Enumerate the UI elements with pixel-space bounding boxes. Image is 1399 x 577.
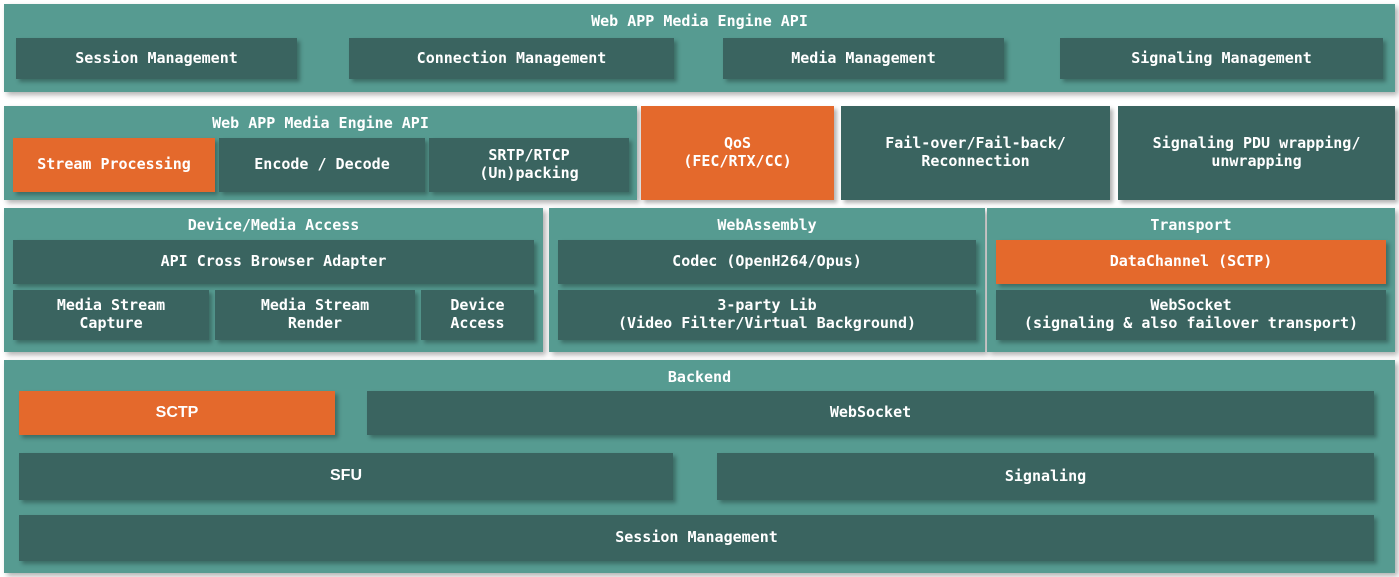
box-3-party-lib[interactable]: 3-party Lib (Video Filter/Virtual Backgr… [558, 290, 976, 340]
box-codec-openh264-opus[interactable]: Codec (OpenH264/Opus) [558, 240, 976, 284]
box-backend-session-management[interactable]: Session Management [19, 515, 1374, 561]
layer-title-backend: Backend [4, 370, 1395, 385]
box-websocket-transport[interactable]: WebSocket (signaling & also failover tra… [996, 290, 1386, 340]
layer-web-app-media-engine-api: Web APP Media Engine API Session Managem… [4, 4, 1395, 92]
box-qos[interactable]: QoS (FEC/RTX/CC) [641, 106, 834, 200]
box-datachannel-sctp[interactable]: DataChannel (SCTP) [996, 240, 1386, 284]
box-backend-signaling[interactable]: Signaling [717, 453, 1374, 500]
layer-title-row2-group: Web APP Media Engine API [4, 116, 637, 131]
box-stream-processing[interactable]: Stream Processing [13, 138, 215, 192]
box-media-stream-render[interactable]: Media Stream Render [215, 290, 415, 340]
box-signaling-management[interactable]: Signaling Management [1060, 38, 1383, 79]
box-media-stream-capture[interactable]: Media Stream Capture [13, 290, 209, 340]
box-device-access[interactable]: Device Access [421, 290, 534, 340]
box-media-management[interactable]: Media Management [723, 38, 1004, 79]
layer-title-device-media-access: Device/Media Access [4, 218, 543, 233]
box-session-management[interactable]: Session Management [16, 38, 297, 79]
layer-title-transport: Transport [987, 218, 1395, 233]
layer-device-media-access: Device/Media Access API Cross Browser Ad… [4, 208, 543, 352]
layer-title-row1: Web APP Media Engine API [4, 14, 1395, 29]
layer-title-webassembly: WebAssembly [549, 218, 985, 233]
box-srtp-rtcp-packing[interactable]: SRTP/RTCP (Un)packing [429, 138, 629, 192]
box-connection-management[interactable]: Connection Management [349, 38, 674, 79]
box-failover-failback-reconnection[interactable]: Fail-over/Fail-back/ Reconnection [841, 106, 1110, 200]
box-backend-sctp[interactable]: SCTP [19, 391, 335, 435]
box-api-cross-browser-adapter[interactable]: API Cross Browser Adapter [13, 240, 534, 284]
layer-transport: Transport DataChannel (SCTP) WebSocket (… [987, 208, 1395, 352]
box-backend-websocket[interactable]: WebSocket [367, 391, 1374, 435]
box-encode-decode[interactable]: Encode / Decode [219, 138, 425, 192]
box-signaling-pdu-wrapping[interactable]: Signaling PDU wrapping/ unwrapping [1118, 106, 1395, 200]
box-backend-sfu[interactable]: SFU [19, 453, 673, 500]
layer-webassembly: WebAssembly Codec (OpenH264/Opus) 3-part… [549, 208, 985, 352]
layer-media-engine-internals: Web APP Media Engine API Stream Processi… [4, 106, 637, 200]
layer-backend: Backend SCTP WebSocket SFU Signaling Ses… [4, 360, 1395, 573]
